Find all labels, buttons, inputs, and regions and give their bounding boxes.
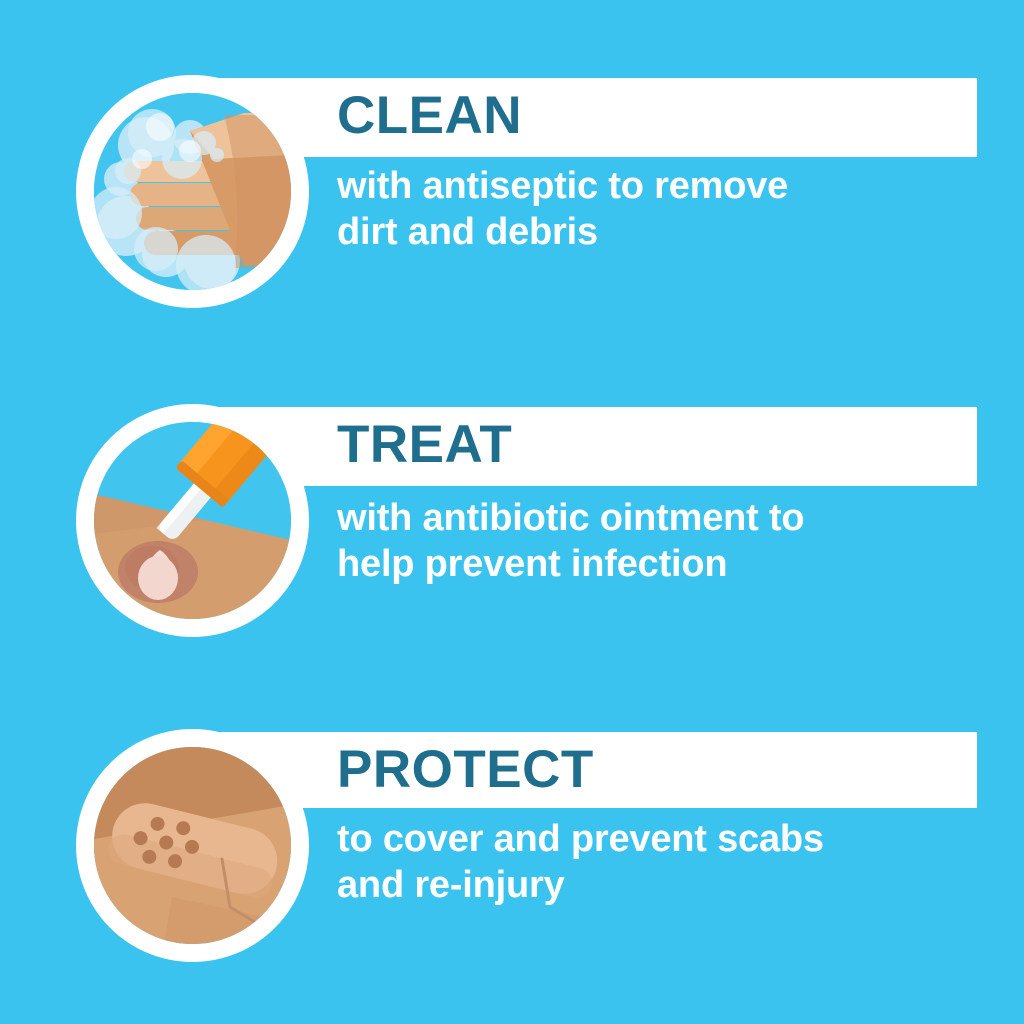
step-body-line: with antiseptic to remove: [337, 165, 788, 207]
step-icon-treat: [76, 404, 309, 637]
step-icon-protect: [76, 729, 309, 962]
step-body-line: help prevent infection: [337, 543, 727, 585]
step-title-protect: PROTECT: [337, 739, 594, 801]
step-body-line: dirt and debris: [337, 211, 598, 253]
icon-disc: [94, 747, 291, 944]
infographic-root: CLEAN with antiseptic to remove dirt and…: [0, 0, 1024, 1024]
step-body-protect: to cover and prevent scabs and re-injury: [337, 816, 987, 908]
step-title-clean: CLEAN: [337, 85, 522, 147]
step-body-treat: with antibiotic ointment to help prevent…: [337, 495, 987, 587]
hand-washing-with-suds-icon: [94, 93, 291, 290]
step-body-clean: with antiseptic to remove dirt and debri…: [337, 163, 987, 255]
step-title-treat: TREAT: [337, 414, 512, 476]
step-body-line: to cover and prevent scabs: [337, 818, 824, 860]
ointment-tube-on-skin-icon: [94, 422, 291, 619]
step-icon-clean: [76, 75, 309, 308]
icon-disc: [94, 422, 291, 619]
step-body-line: and re-injury: [337, 864, 565, 906]
icon-disc: [94, 93, 291, 290]
step-body-line: with antibiotic ointment to: [337, 497, 804, 539]
adhesive-bandage-on-skin-icon: [94, 747, 291, 944]
